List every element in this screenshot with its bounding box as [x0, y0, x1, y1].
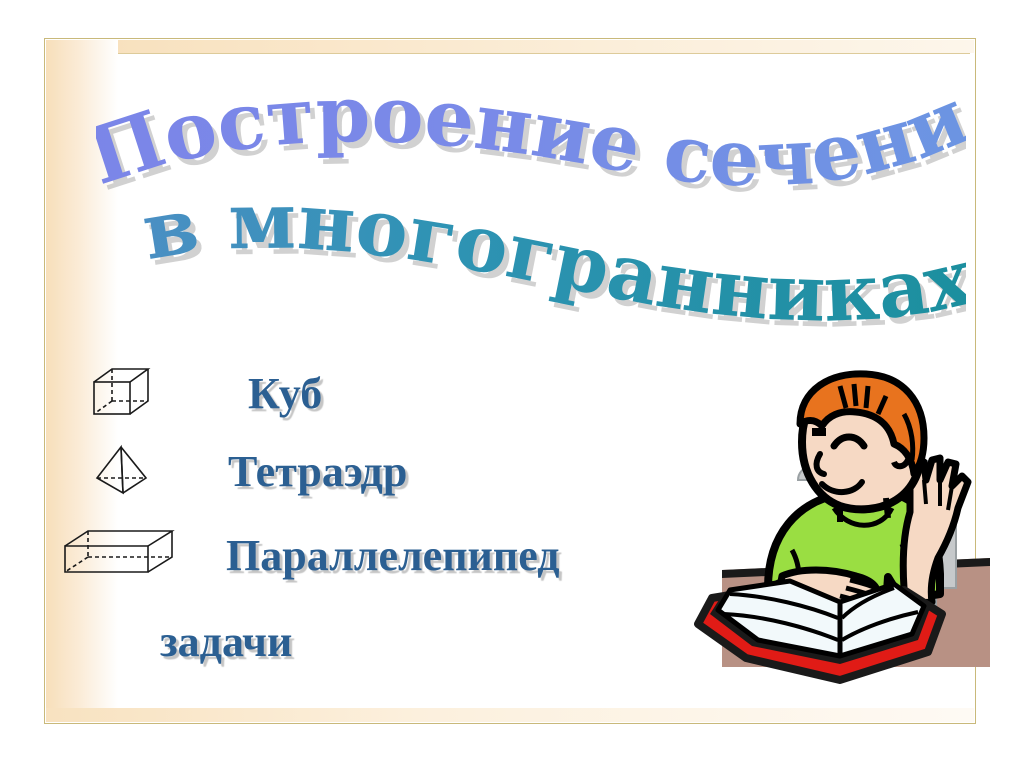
- topic-menu: Куб Тетраэдр: [60, 358, 680, 688]
- parallelepiped-icon: [60, 524, 178, 586]
- menu-item-parallelepiped-label: Параллелепипед: [226, 530, 559, 581]
- menu-item-cube[interactable]: Куб: [88, 364, 322, 422]
- boy-raising-hand-illustration: [690, 362, 990, 702]
- tetrahedron-icon: [88, 442, 158, 500]
- menu-item-cube-label: Куб: [248, 368, 322, 419]
- cube-icon: [88, 364, 158, 422]
- frame-band-bottom: [46, 708, 974, 722]
- menu-item-tasks-label: задачи: [160, 616, 292, 667]
- menu-item-parallelepiped[interactable]: Параллелепипед: [60, 524, 559, 586]
- frame-inner-line: [118, 53, 970, 54]
- slide-title-wordart: Построение сечений в многогранниках Пост…: [96, 78, 966, 348]
- menu-item-tasks[interactable]: задачи: [160, 616, 292, 667]
- menu-item-tetrahedron[interactable]: Тетраэдр: [88, 442, 407, 500]
- presentation-slide: Построение сечений в многогранниках Пост…: [0, 0, 1024, 767]
- menu-item-tetrahedron-label: Тетраэдр: [228, 446, 407, 497]
- frame-band-top: [46, 40, 974, 53]
